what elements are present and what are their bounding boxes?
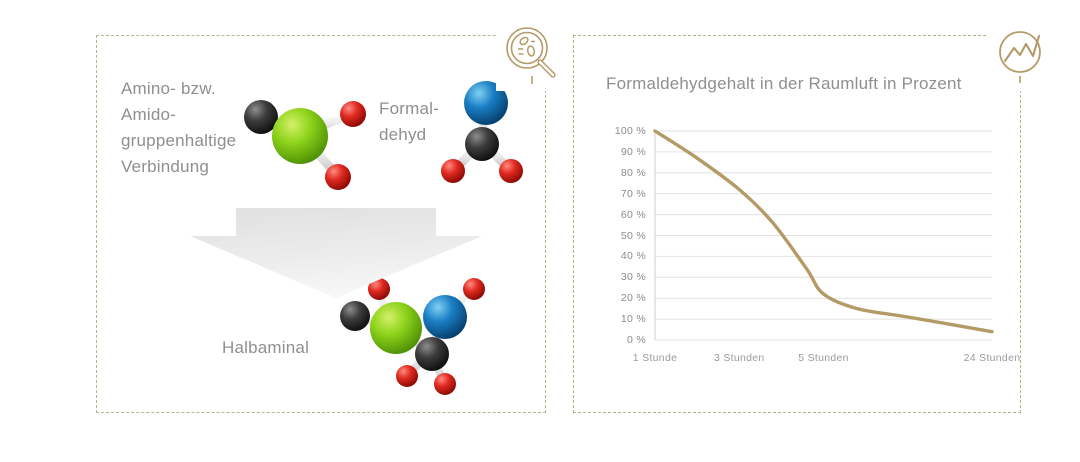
y-axis-tick-label: 80 % [602,167,646,179]
halbaminal-label: Halbaminal [222,338,309,358]
amino-compound-molecule [228,84,378,194]
y-axis-tick-label: 100 % [602,125,646,137]
chart-title: Formaldehydgehalt in der Raumluft in Pro… [606,74,962,94]
y-axis-tick-label: 40 % [602,250,646,262]
x-axis-tick-label: 1 Stunde [633,352,677,364]
y-axis-tick-label: 60 % [602,209,646,221]
x-axis-tick-label: 24 Stunden [964,352,1021,364]
magnifier-molecule-icon [496,19,568,91]
x-axis-tick-label: 5 Stunden [798,352,849,364]
y-axis-tick-label: 20 % [602,292,646,304]
line-chart: 0 %10 %20 %30 %40 %50 %60 %70 %80 %90 %1… [600,120,1000,380]
y-axis-tick-label: 70 % [602,188,646,200]
trend-line-circle-icon [986,19,1058,91]
y-axis-tick-label: 90 % [602,146,646,158]
reaction-arrow-down [190,208,482,298]
y-axis-tick-label: 50 % [602,230,646,242]
y-axis-tick-label: 10 % [602,313,646,325]
x-axis-tick-label: 3 Stunden [714,352,765,364]
chart-svg [600,120,1000,380]
y-axis-tick-label: 30 % [602,271,646,283]
amino-compound-label: Amino- bzw. Amido- gruppenhaltige Verbin… [121,76,236,180]
y-axis-tick-label: 0 % [602,334,646,346]
series-line [655,131,992,332]
